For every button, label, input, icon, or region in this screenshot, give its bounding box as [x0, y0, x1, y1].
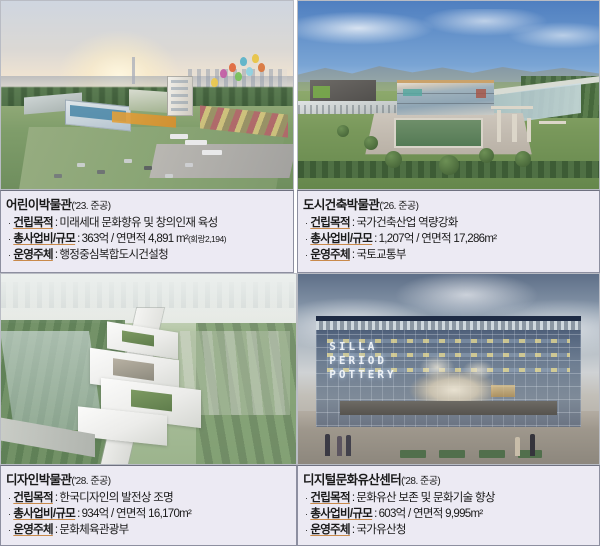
row-separator: :: [374, 231, 377, 247]
row-label: 총사업비/규모: [13, 231, 75, 247]
lawn-patch: [400, 450, 426, 458]
visitor: [325, 434, 330, 456]
row-separator: :: [352, 215, 355, 231]
bus: [170, 134, 188, 139]
balloon: [235, 72, 242, 81]
bullet-icon: ·: [8, 522, 10, 538]
design-museum-rendering: [0, 273, 297, 465]
row-label: 운영주체: [310, 522, 350, 538]
balloon: [258, 63, 265, 72]
list-item: · 총사업비/규모 : 934억 / 연면적 16,170m²: [6, 506, 292, 522]
row-label: 운영주체: [13, 247, 53, 263]
balloon: [220, 69, 227, 78]
roof-crown-louvers: [316, 321, 581, 331]
stone-column: [527, 118, 531, 142]
distant-tower: [132, 57, 135, 83]
row-separator: :: [77, 231, 80, 247]
panel-children-museum: 어린이박물관('23. 준공) · 건립목적 : 미래세대 문화향유 및 창의인…: [0, 0, 297, 273]
completion-note: ('23. 준공): [71, 197, 110, 212]
row-separator: :: [352, 522, 355, 538]
row-value: 1,207억 / 연면적 17,286m²: [379, 231, 497, 247]
children-museum-rendering: [0, 0, 294, 190]
list-item: · 건립목적 : 문화유산 보존 및 문화기술 향상: [303, 490, 595, 506]
panel-design-museum: 디자인박물관('28. 준공) · 건립목적 : 한국디자인의 발전상 조명 ·…: [0, 273, 297, 546]
urban-architecture-museum-rendering: [297, 0, 600, 190]
row-label: 건립목적: [310, 215, 350, 231]
row-label: 건립목적: [13, 490, 53, 506]
completion-note: ('26. 준공): [379, 197, 418, 212]
row-separator: :: [55, 215, 58, 231]
car: [97, 170, 105, 174]
stone-column: [512, 114, 517, 142]
row-separator: :: [55, 247, 58, 263]
row-separator: :: [352, 247, 355, 263]
facade-text: SILLAPERIODPOTTERY: [329, 340, 396, 382]
facade-text-line-3: POTTERY: [329, 368, 396, 381]
bullet-icon: ·: [8, 231, 10, 247]
row-separator: :: [55, 522, 58, 538]
stone-column: [497, 110, 501, 142]
row-label: 총사업비/규모: [13, 506, 75, 522]
visitor: [515, 437, 520, 456]
balloon: [252, 54, 259, 63]
children-museum-caption: 어린이박물관('23. 준공) · 건립목적 : 미래세대 문화향유 및 창의인…: [0, 190, 294, 273]
row-value: 603억 / 연면적 9,995m²: [379, 506, 483, 522]
panel-digital-heritage-center: SILLAPERIODPOTTERY 디지털문화: [297, 273, 600, 546]
caption-list: · 건립목적 : 국가건축산업 역량강화 · 총사업비/규모 : 1,207억 …: [303, 215, 595, 263]
stone-lintel: [539, 121, 566, 124]
scene-media-facade-building: SILLAPERIODPOTTERY: [298, 274, 599, 464]
interior-exhibit-teal: [403, 89, 422, 97]
car: [165, 174, 173, 178]
row-label: 총사업비/규모: [310, 506, 372, 522]
row-value: 문화체육관광부: [59, 522, 128, 538]
sunken-courtyard: [394, 118, 482, 148]
list-item: · 총사업비/규모 : 363억 / 연면적 4,891 m² (회랑2,194…: [6, 231, 289, 247]
list-item: · 건립목적 : 한국디자인의 발전상 조명: [6, 490, 292, 506]
row-label: 총사업비/규모: [310, 231, 372, 247]
visitor: [337, 436, 342, 456]
caption-title-line: 디지털문화유산센터('28. 준공): [303, 469, 595, 489]
digital-heritage-center-rendering: SILLAPERIODPOTTERY: [297, 273, 600, 465]
bullet-icon: ·: [305, 506, 307, 522]
row-value: 국가건축산업 역량강화: [356, 215, 457, 231]
scene-sunset-aerial: [1, 1, 293, 189]
floor-line: [397, 103, 493, 104]
list-item: · 총사업비/규모 : 1,207억 / 연면적 17,286m²: [303, 231, 595, 247]
row-value: 미래세대 문화향유 및 창의인재 육성: [59, 215, 217, 231]
row-value: 문화유산 보존 및 문화기술 향상: [356, 490, 494, 506]
row-separator: :: [77, 506, 80, 522]
roadway: [149, 144, 293, 178]
row-label: 건립목적: [13, 215, 53, 231]
visitor: [346, 435, 351, 456]
list-item: · 운영주체 : 문화체육관광부: [6, 522, 292, 538]
row-value: 국토교통부: [356, 247, 405, 263]
interior-exhibit-red: [476, 89, 486, 97]
caption-list: · 건립목적 : 문화유산 보존 및 문화기술 향상 · 총사업비/규모 : 6…: [303, 490, 595, 538]
panel-title: 도시건축박물관: [303, 194, 379, 214]
caption-title-line: 도시건축박물관('26. 준공): [303, 194, 595, 214]
scene-museum-plaza: [298, 1, 599, 189]
row-separator: :: [352, 490, 355, 506]
row-value-note: (회랑2,194): [188, 231, 226, 247]
bullet-icon: ·: [305, 215, 307, 231]
design-museum-caption: 디자인박물관('28. 준공) · 건립목적 : 한국디자인의 발전상 조명 ·…: [0, 465, 297, 546]
caption-list: · 건립목적 : 한국디자인의 발전상 조명 · 총사업비/규모 : 934억 …: [6, 490, 292, 538]
row-separator: :: [55, 490, 58, 506]
row-separator: :: [374, 506, 377, 522]
lawn-patch: [479, 450, 505, 458]
balloon: [229, 63, 236, 72]
list-item: · 운영주체 : 국토교통부: [303, 247, 595, 263]
low-wing-building: [298, 101, 406, 114]
list-item: · 건립목적 : 미래세대 문화향유 및 창의인재 육성: [6, 215, 289, 231]
clouds: [298, 9, 599, 58]
panel-urban-architecture-museum: 도시건축박물관('26. 준공) · 건립목적 : 국가건축산업 역량강화 · …: [297, 0, 600, 273]
row-label: 건립목적: [310, 490, 350, 506]
facade-text-line-1: SILLA: [329, 340, 377, 353]
list-item: · 총사업비/규모 : 603억 / 연면적 9,995m²: [303, 506, 595, 522]
bus: [185, 140, 207, 145]
panel-title: 디지털문화유산센터: [303, 469, 401, 489]
tower-block: [167, 76, 192, 116]
bullet-icon: ·: [8, 490, 10, 506]
caption-title-line: 디자인박물관('28. 준공): [6, 469, 292, 489]
list-item: · 운영주체 : 국가유산청: [303, 522, 595, 538]
entrance-glow: [491, 385, 515, 398]
car: [124, 159, 132, 163]
lawn-patch: [439, 450, 465, 458]
list-item: · 건립목적 : 국가건축산업 역량강화: [303, 215, 595, 231]
balloon: [246, 67, 253, 76]
row-value: 행정중심복합도시건설청: [59, 247, 168, 263]
completion-note: ('28. 준공): [401, 472, 440, 487]
row-value: 한국디자인의 발전상 조명: [59, 490, 173, 506]
urban-architecture-museum-caption: 도시건축박물관('26. 준공) · 건립목적 : 국가건축산업 역량강화 · …: [297, 190, 600, 273]
row-value: 934억 / 연면적 16,170m²: [82, 506, 192, 522]
row-value: 국가유산청: [356, 522, 405, 538]
stone-lintel: [491, 106, 533, 109]
caption-title-line: 어린이박물관('23. 준공): [6, 194, 289, 214]
car: [185, 163, 193, 167]
bullet-icon: ·: [8, 506, 10, 522]
row-label: 운영주체: [13, 522, 53, 538]
main-museum-building: [397, 80, 493, 115]
bullet-icon: ·: [305, 522, 307, 538]
scene-linear-museum-aerial: [1, 274, 296, 464]
museum-panels-grid: 어린이박물관('23. 준공) · 건립목적 : 미래세대 문화향유 및 창의인…: [0, 0, 600, 546]
bullet-icon: ·: [8, 215, 10, 231]
list-item: · 운영주체 : 행정중심복합도시건설청: [6, 247, 289, 263]
bullet-icon: ·: [305, 490, 307, 506]
row-value: 363억 / 연면적 4,891 m²: [82, 231, 188, 247]
panel-title: 디자인박물관: [6, 469, 71, 489]
bus: [202, 150, 222, 155]
facade-text-line-2: PERIOD: [329, 354, 387, 367]
row-label: 운영주체: [310, 247, 350, 263]
car: [144, 166, 152, 170]
panel-title: 어린이박물관: [6, 194, 71, 214]
tree: [479, 148, 494, 163]
bullet-icon: ·: [305, 231, 307, 247]
caption-list: · 건립목적 : 미래세대 문화향유 및 창의인재 육성 · 총사업비/규모 :…: [6, 215, 289, 263]
completion-note: ('28. 준공): [71, 472, 110, 487]
bullet-icon: ·: [8, 247, 10, 263]
visitor: [530, 434, 535, 456]
car: [77, 163, 85, 167]
balloon: [240, 57, 247, 66]
building-podium: [340, 401, 557, 414]
car: [54, 174, 62, 178]
digital-heritage-center-caption: 디지털문화유산센터('28. 준공) · 건립목적 : 문화유산 보존 및 문화…: [297, 465, 600, 546]
bullet-icon: ·: [305, 247, 307, 263]
